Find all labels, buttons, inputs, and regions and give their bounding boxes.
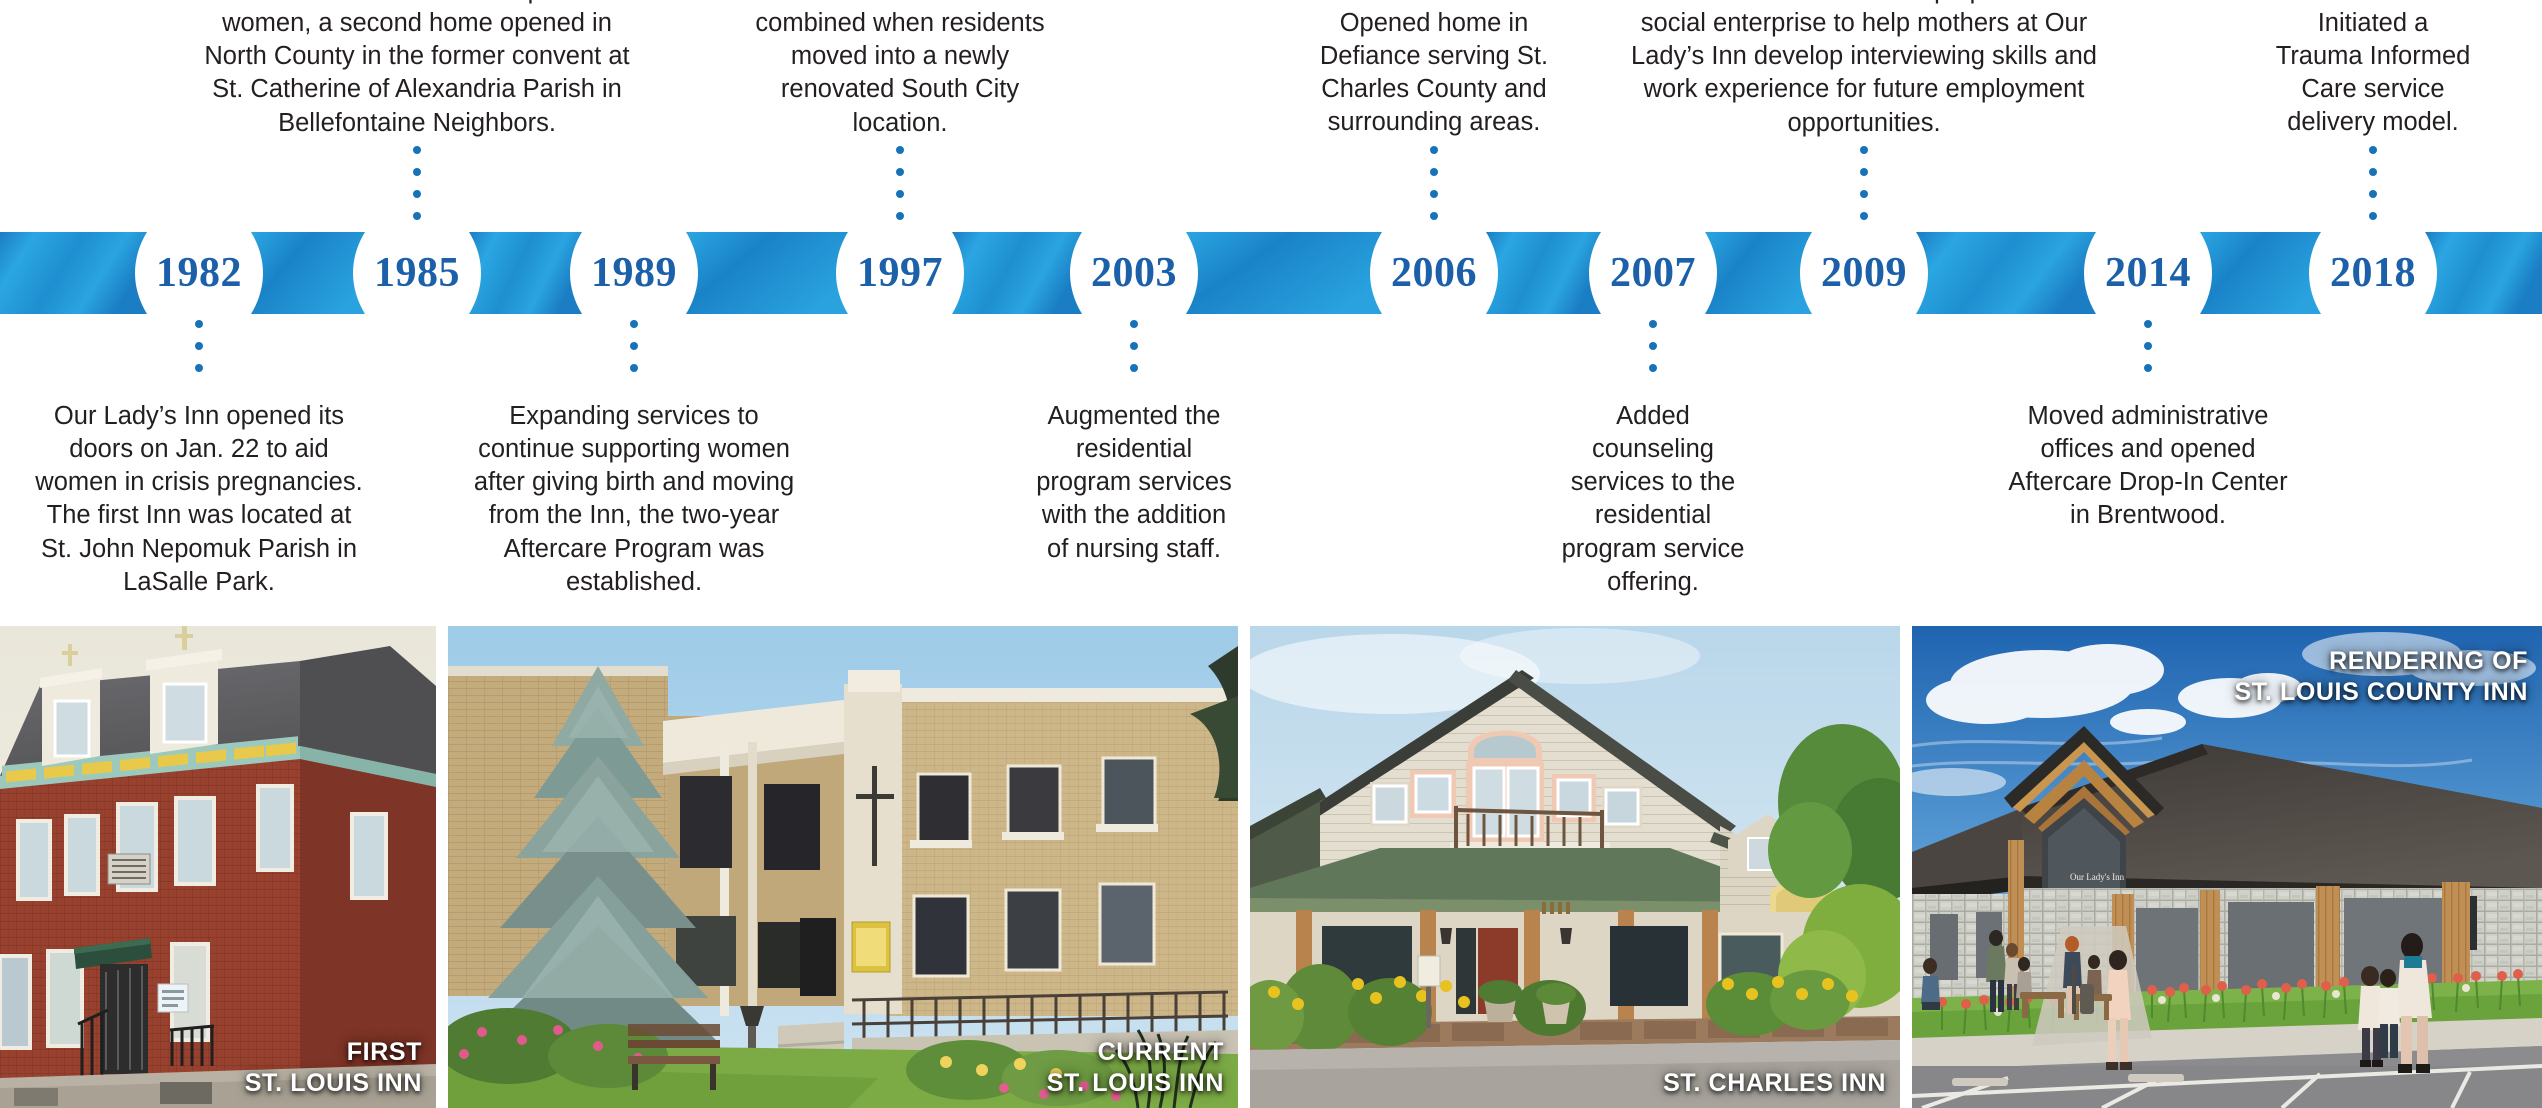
timeline-year-label: 2007 [1610,249,1696,297]
photo-label-line1: FIRST [245,1037,422,1068]
connector-dot [1860,212,1868,220]
photo-label-line1: CURRENT [1047,1037,1224,1068]
dot-connector-2018 [2369,146,2378,228]
connector-dot [1649,342,1657,350]
timeline-year-1982[interactable]: 1982 [129,232,269,314]
ribbon-segment [686,232,848,314]
photo-label-rendering-st-louis-county-inn: RENDERING OF ST. LOUIS COUNTY INN [2234,646,2528,707]
connector-dot [1130,364,1138,372]
ribbon-segment [952,232,1082,314]
connector-dot [413,212,421,220]
bottom-caption-row: Our Lady’s Inn opened its doors on Jan. … [0,400,2542,580]
timeline-caption-1985: To address the need to help more women, … [192,0,642,140]
timeline-caption-2003: Augmented the residential program servic… [1029,400,1239,566]
connector-dot [1430,168,1438,176]
timeline-year-1989[interactable]: 1989 [564,232,704,314]
connector-dot [630,364,638,372]
connector-dot [1860,190,1868,198]
connector-dot [1130,320,1138,328]
connector-dot [2144,320,2152,328]
photo-label-line2: ST. LOUIS INN [245,1068,422,1099]
timeline-caption-1989: Expanding services to continue supportin… [464,400,804,599]
svg-text:Our Lady's Inn: Our Lady's Inn [2070,872,2125,882]
photo-rendering-st-louis-county-inn: Our Lady's Inn [1912,626,2542,1108]
photo-label-line2: ST. LOUIS COUNTY INN [2234,677,2528,708]
connector-dot [1130,342,1138,350]
connector-dot [1649,364,1657,372]
timeline-caption-2009: Twice Blessed Resale Shop opened as a so… [1604,0,2124,140]
photo-st-charles-inn: ST. CHARLES INN [1250,626,1900,1108]
timeline-year-label: 2009 [1821,249,1907,297]
timeline-year-label: 2018 [2330,249,2416,297]
timeline-year-1997[interactable]: 1997 [830,232,970,314]
timeline-caption-2018: Initiated a Trauma Informed Care service… [2273,7,2473,140]
timeline-year-label: 2006 [1391,249,1477,297]
timeline-year-2007[interactable]: 2007 [1583,232,1723,314]
connector-dot [1860,146,1868,154]
connector-dot [2369,190,2377,198]
connector-dot [2369,212,2377,220]
timeline-year-label: 1982 [156,249,242,297]
connector-dot [2369,168,2377,176]
connector-dot [896,168,904,176]
dot-connector-2007 [1649,320,1658,396]
top-caption-row: To address the need to help more women, … [0,0,2542,150]
connector-dot [896,146,904,154]
ribbon-segment [0,232,147,314]
connector-dot [1860,168,1868,176]
timeline-year-2006[interactable]: 2006 [1364,232,1504,314]
ribbon-segment [1916,232,2096,314]
timeline-caption-2014: Moved administrative offices and opened … [2008,400,2288,533]
timeline-year-2018[interactable]: 2018 [2303,232,2443,314]
connector-dot [1649,320,1657,328]
connector-dot [413,146,421,154]
connector-dot [896,212,904,220]
photo-strip: FIRST ST. LOUIS INN [0,626,2542,1108]
dot-connector-1997 [896,146,905,228]
dot-connector-2009 [1860,146,1869,228]
timeline-year-2009[interactable]: 2009 [1794,232,1934,314]
dot-connector-1985 [413,146,422,228]
dot-connector-2003 [1130,320,1139,396]
connector-dot [2144,342,2152,350]
timeline-caption-1997: Both locations were combined when reside… [750,0,1050,140]
photo-label-line1: RENDERING OF [2234,646,2528,677]
photo-label-current-st-louis-inn: CURRENT ST. LOUIS INN [1047,1037,1224,1098]
timeline-year-2003[interactable]: 2003 [1064,232,1204,314]
dot-connector-2014 [2144,320,2153,396]
photo-label-first-st-louis-inn: FIRST ST. LOUIS INN [245,1037,422,1098]
connector-dot [413,168,421,176]
timeline-year-label: 2014 [2105,249,2191,297]
connector-dot [195,342,203,350]
photo-first-st-louis-inn: FIRST ST. LOUIS INN [0,626,436,1108]
timeline-caption-2007: Added counseling services to the residen… [1553,400,1753,599]
connector-dot [413,190,421,198]
timeline-year-2014[interactable]: 2014 [2078,232,2218,314]
photo-label-st-charles-inn: ST. CHARLES INN [1663,1068,1886,1099]
connector-dot [2369,146,2377,154]
connector-dot [630,320,638,328]
photo-label-line1: ST. CHARLES INN [1663,1068,1886,1099]
photo-current-st-louis-inn: CURRENT ST. LOUIS INN [448,626,1238,1108]
connector-dot [195,320,203,328]
connector-dot [2144,364,2152,372]
timeline-caption-2006: Opened home in Defiance serving St. Char… [1319,7,1549,140]
dot-connector-1982 [195,320,204,396]
dot-connector-1989 [630,320,639,396]
timeline-caption-1982: Our Lady’s Inn opened its doors on Jan. … [34,400,364,599]
connector-dot [1430,146,1438,154]
dot-connector-2006 [1430,146,1439,228]
timeline-year-label: 2003 [1091,249,1177,297]
connector-dot [896,190,904,198]
connector-dot [195,364,203,372]
timeline-year-label: 1985 [374,249,460,297]
photo-label-line2: ST. LOUIS INN [1047,1068,1224,1099]
connector-dot [1430,212,1438,220]
timeline-year-1985[interactable]: 1985 [347,232,487,314]
ribbon-segment [1186,232,1382,314]
timeline-year-label: 1989 [591,249,677,297]
connector-dot [1430,190,1438,198]
connector-dot [630,342,638,350]
timeline-year-label: 1997 [857,249,943,297]
